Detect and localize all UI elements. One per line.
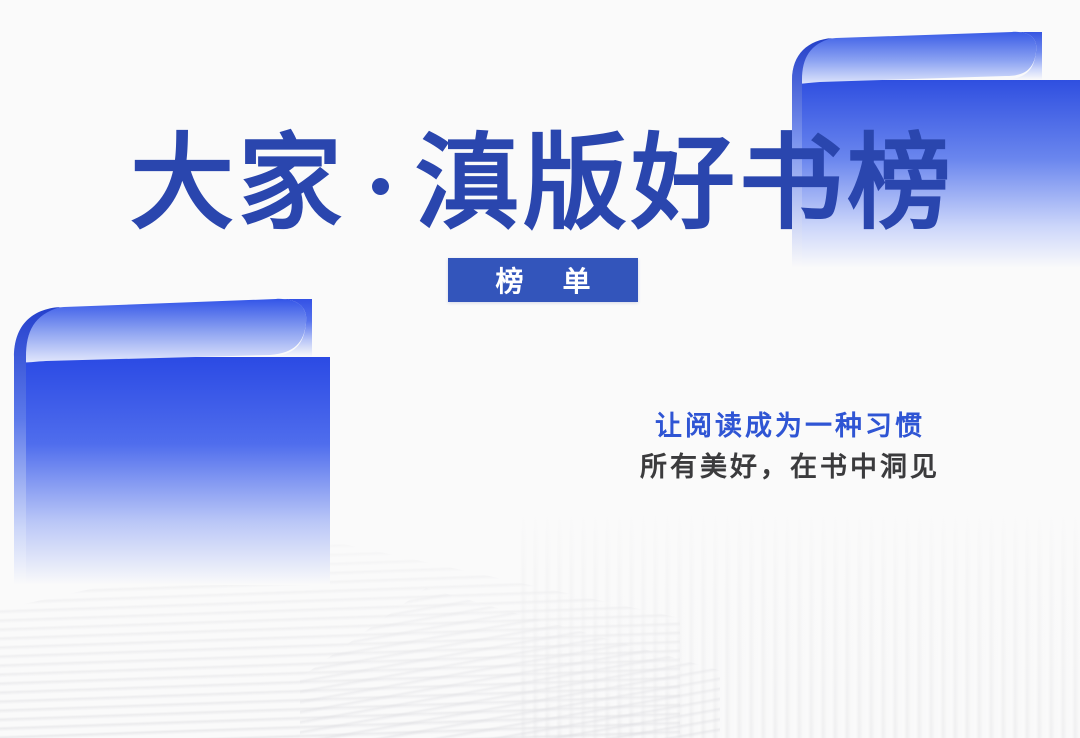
title-part-1: 大家 (130, 127, 346, 242)
tagline-block: 让阅读成为一种习惯 所有美好，在书中洞见 (610, 406, 970, 488)
poster-canvas: 大家滇版好书榜 榜 单 让阅读成为一种习惯 所有美好，在书中洞见 (0, 0, 1080, 738)
page-title: 大家滇版好书榜 (130, 126, 960, 244)
tagline-primary: 让阅读成为一种习惯 (610, 406, 970, 446)
page-stack-left-icon (0, 538, 680, 738)
texture-fade-overlay (0, 508, 1080, 738)
title-separator-dot-icon (372, 178, 389, 195)
ranking-badge-label: 榜 单 (479, 260, 606, 300)
ranking-badge: 榜 单 (448, 258, 638, 302)
page-stack-center-icon (300, 588, 720, 738)
title-part-2: 滇版好书榜 (415, 127, 955, 242)
book-illustration-left-icon (0, 285, 340, 595)
tagline-secondary: 所有美好，在书中洞见 (610, 446, 970, 488)
page-stripes-right-icon (520, 508, 1080, 738)
page-texture-decoration (0, 508, 1080, 738)
